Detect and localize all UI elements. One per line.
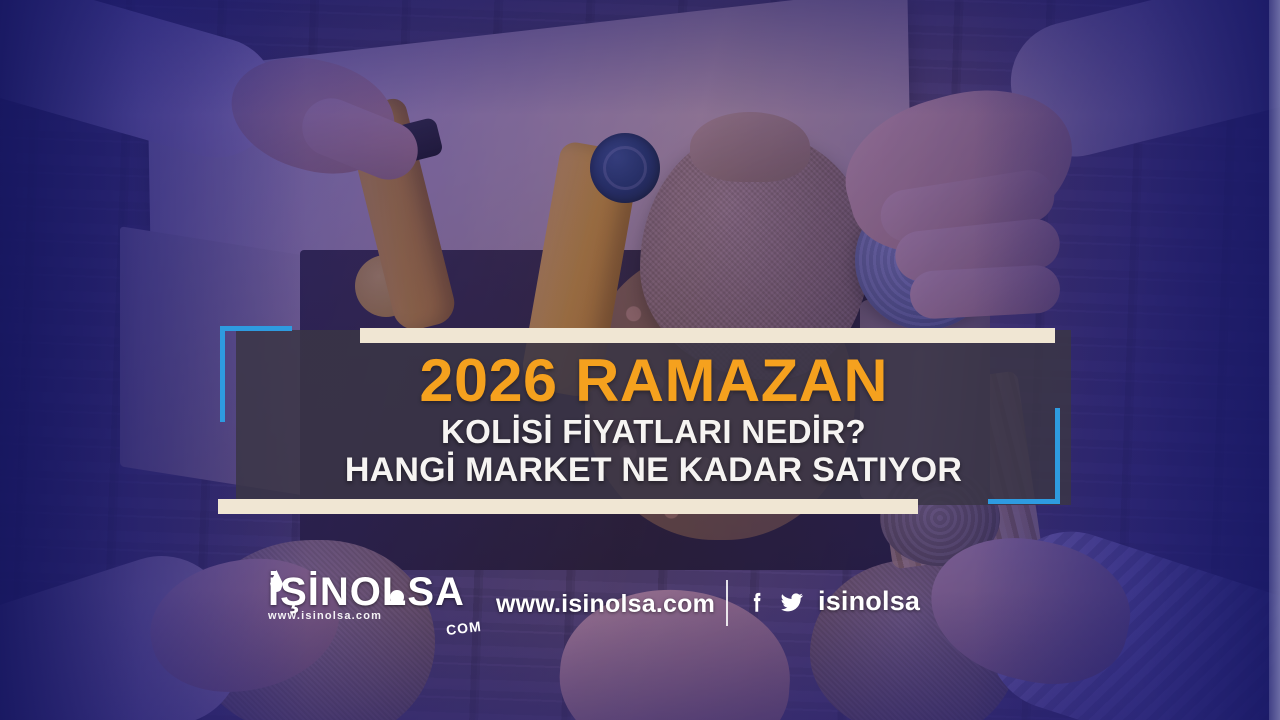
headline-group: 2026 RAMAZAN KOLİSİ FİYATLARI NEDİR? HAN… <box>236 330 1071 505</box>
headline-line-2: KOLİSİ FİYATLARI NEDİR? <box>441 414 866 451</box>
site-url: www.isinolsa.com <box>496 590 715 619</box>
cover-image: 2026 RAMAZAN KOLİSİ FİYATLARI NEDİR? HAN… <box>0 0 1280 720</box>
logo-wordmark: İŞİNOLSA <box>268 572 478 612</box>
headline-line-1: 2026 RAMAZAN <box>419 350 888 411</box>
logo-dot-icon <box>390 590 404 604</box>
title-block: 2026 RAMAZAN KOLİSİ FİYATLARI NEDİR? HAN… <box>218 316 1058 516</box>
site-logo: İŞİNOLSA www.isinolsa.com COM <box>268 572 478 634</box>
logo-subtext: www.isinolsa.com <box>268 610 478 622</box>
branding-bar: İŞİNOLSA www.isinolsa.com COM www.isinol… <box>0 568 1280 648</box>
logo-com-suffix: COM <box>445 618 482 638</box>
headline-line-3: HANGİ MARKET NE KADAR SATIYOR <box>345 451 962 489</box>
branding-divider <box>726 580 728 626</box>
twitter-icon <box>779 588 805 616</box>
facebook-icon <box>744 588 770 616</box>
social-handle: isinolsa <box>818 586 920 617</box>
social-group: isinolsa <box>744 586 920 617</box>
